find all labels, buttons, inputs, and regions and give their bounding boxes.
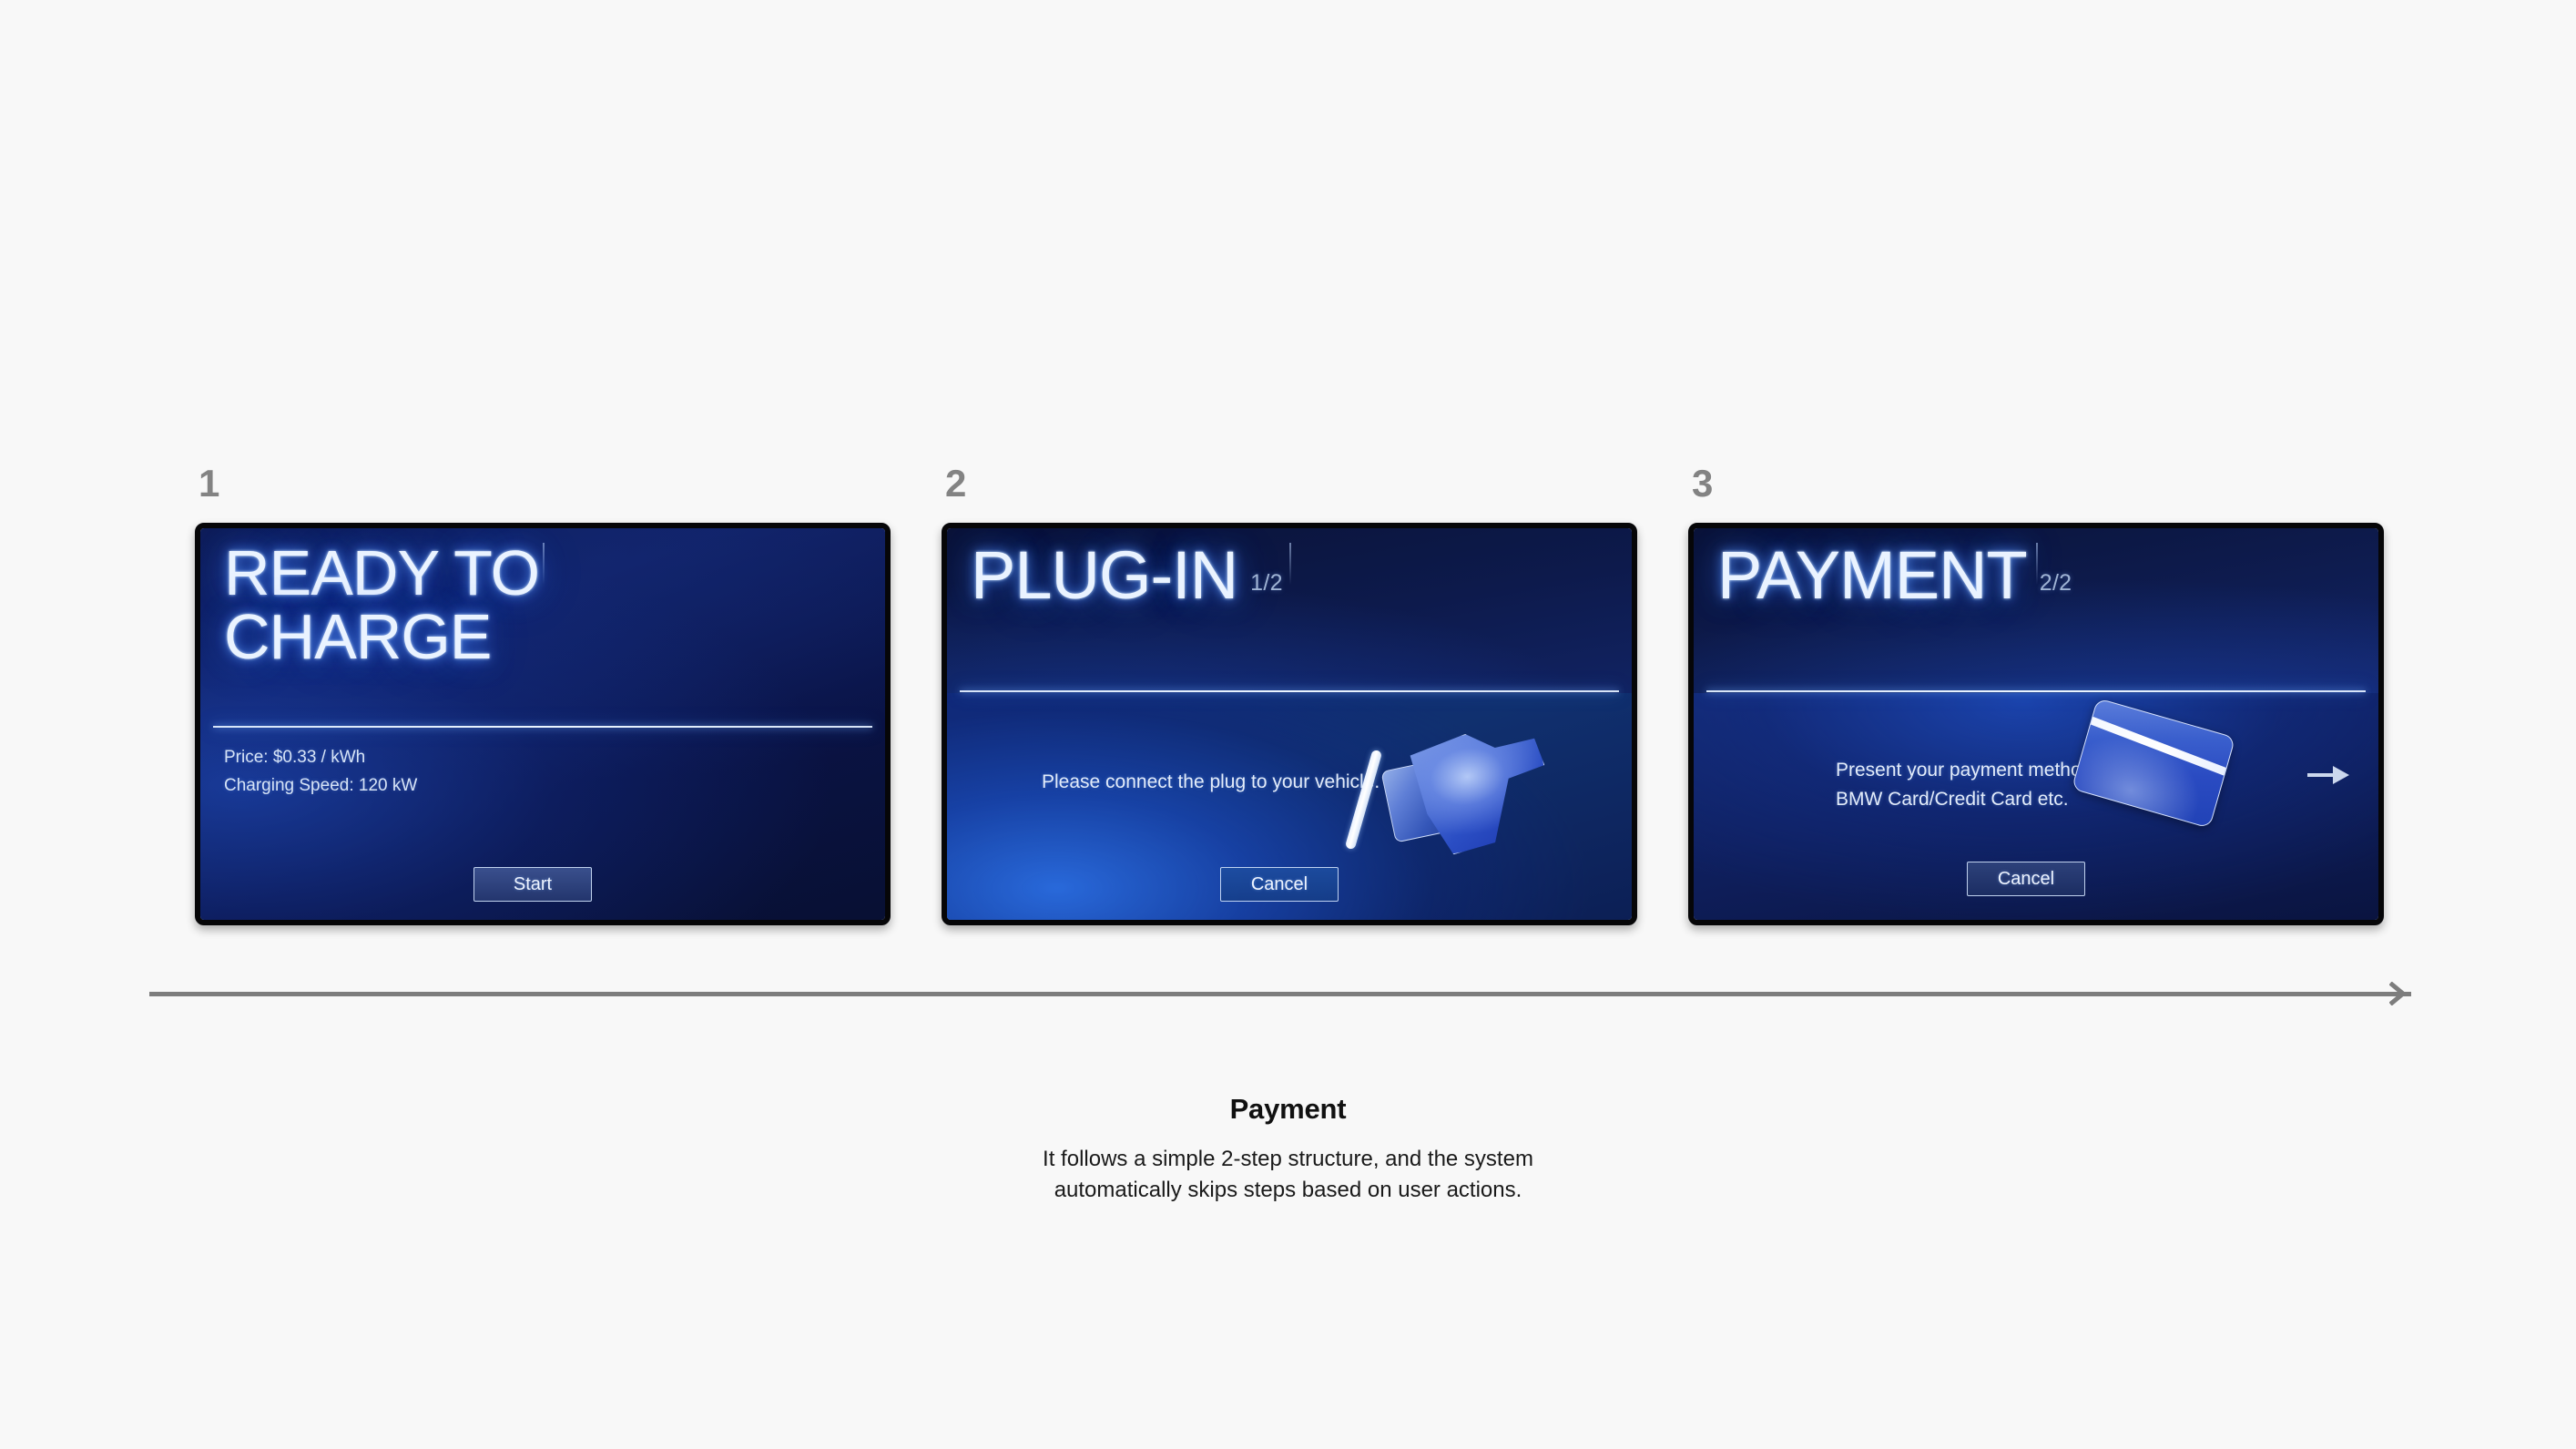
screen-title-1: READY TO CHARGE	[224, 541, 539, 668]
screen-header: PLUG-IN 1/2	[971, 541, 1626, 609]
flow-timeline	[149, 982, 2411, 1005]
kiosk-screen-ready-to-charge[interactable]: READY TO CHARGE Price: $0.33 / kWh Charg…	[195, 523, 891, 925]
step-number-2: 2	[942, 464, 1637, 503]
step-number-3: 3	[1688, 464, 2384, 503]
caption-block: Payment It follows a simple 2-step struc…	[0, 1093, 2576, 1206]
kiosk-screen-payment[interactable]: PAYMENT 2/2 Present your payment method.…	[1688, 523, 2384, 925]
slide-canvas: 1 READY TO CHARGE Price: $0.33 / kWh Cha…	[0, 0, 2576, 1449]
plug-instruction-text: Please connect the plug to your vehicle.	[1042, 768, 1380, 797]
page-indicator-3: 2/2	[2040, 570, 2072, 609]
screen-header: PAYMENT 2/2	[1717, 541, 2373, 609]
caption-body: It follows a simple 2-step structure, an…	[0, 1144, 2576, 1206]
arrow-right-icon	[2307, 763, 2349, 787]
start-button[interactable]: Start	[473, 867, 592, 902]
caption-title: Payment	[0, 1093, 2576, 1126]
kiosk-screen-plug-in[interactable]: PLUG-IN 1/2 Please connect the plug to y…	[942, 523, 1637, 925]
payment-instruction-text: Present your payment method. BMW Card/Cr…	[1836, 756, 2097, 814]
screen-title-2: PLUG-IN	[971, 541, 1237, 609]
step-group-3: 3 PAYMENT 2/2 Present your payment metho…	[1688, 464, 2384, 925]
cancel-button-2[interactable]: Cancel	[1220, 867, 1339, 902]
plug-head-shape	[1404, 721, 1557, 860]
step-group-2: 2 PLUG-IN 1/2 Please connect the plug to…	[942, 464, 1637, 925]
credit-card-shape	[2072, 698, 2236, 829]
page-indicator-2: 1/2	[1250, 570, 1283, 609]
charge-info-text: Price: $0.33 / kWh Charging Speed: 120 k…	[224, 743, 417, 801]
header-divider-2	[960, 690, 1619, 692]
cancel-button-3[interactable]: Cancel	[1967, 862, 2085, 896]
timeline-line	[149, 992, 2411, 996]
credit-card-icon	[2069, 699, 2251, 836]
plug-cable-shape	[1345, 750, 1382, 851]
step-number-1: 1	[195, 464, 891, 503]
screen-title-3: PAYMENT	[1717, 541, 2027, 609]
credit-card-stripe	[2082, 713, 2234, 778]
timeline-arrow-right-icon	[2389, 982, 2413, 1005]
step-group-1: 1 READY TO CHARGE Price: $0.33 / kWh Cha…	[195, 464, 891, 925]
header-divider-3	[1706, 690, 2366, 692]
charging-plug-icon	[1339, 719, 1557, 874]
header-divider-1	[213, 726, 872, 728]
screen-header: READY TO CHARGE	[224, 541, 880, 668]
